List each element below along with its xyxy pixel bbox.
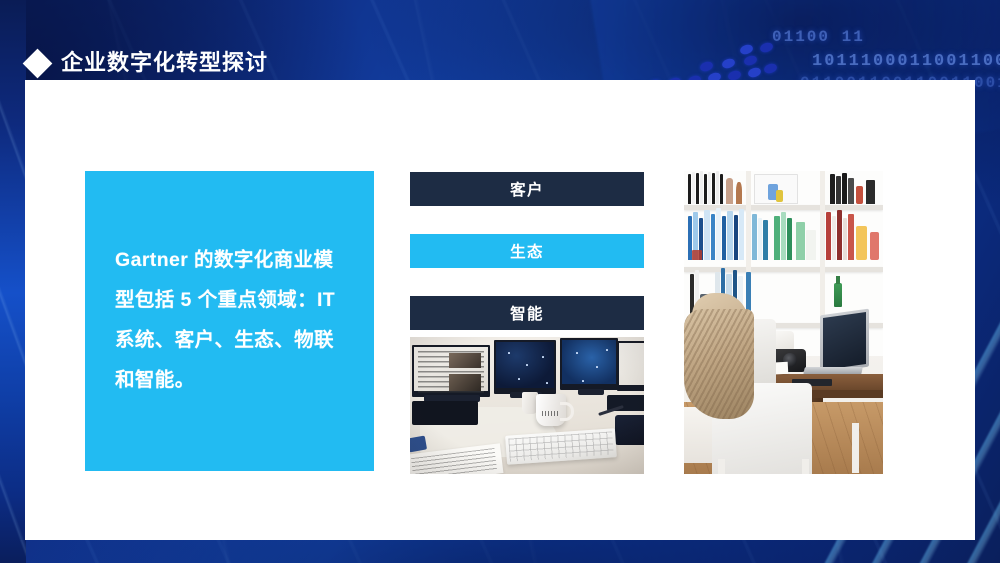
label-bar-ecosystem-text: 生态 bbox=[510, 240, 544, 262]
slide-header: 企业数字化转型探讨 bbox=[27, 52, 268, 74]
desk-workspace-illustration bbox=[410, 337, 644, 474]
home-office-bookshelf-photo bbox=[684, 171, 883, 474]
description-text: Gartner 的数字化商业模型包括 5 个重点领域：IT 系统、客户、生态、物… bbox=[115, 241, 344, 401]
label-bar-group: 客户 生态 智能 bbox=[410, 172, 644, 330]
diamond-icon bbox=[23, 48, 53, 78]
slide-root: 01100 11 1011100011001100111 01100110011… bbox=[0, 0, 1000, 563]
content-card: Gartner 的数字化商业模型包括 5 个重点领域：IT 系统、客户、生态、物… bbox=[25, 80, 975, 540]
label-bar-intelligence-text: 智能 bbox=[510, 302, 544, 324]
binary-code-row-2: 1011100011001100111 bbox=[812, 52, 1000, 71]
binary-code-row-1: 01100 11 bbox=[772, 28, 865, 46]
label-bar-ecosystem[interactable]: 生态 bbox=[410, 234, 644, 268]
label-bar-customer[interactable]: 客户 bbox=[410, 172, 644, 206]
left-edge-streaks bbox=[0, 0, 26, 563]
desk-workspace-photo bbox=[410, 337, 644, 474]
page-title: 企业数字化转型探讨 bbox=[61, 52, 268, 74]
label-bar-customer-text: 客户 bbox=[510, 178, 544, 200]
home-office-illustration bbox=[684, 171, 883, 474]
label-bar-intelligence[interactable]: 智能 bbox=[410, 296, 644, 330]
description-panel: Gartner 的数字化商业模型包括 5 个重点领域：IT 系统、客户、生态、物… bbox=[85, 171, 374, 471]
